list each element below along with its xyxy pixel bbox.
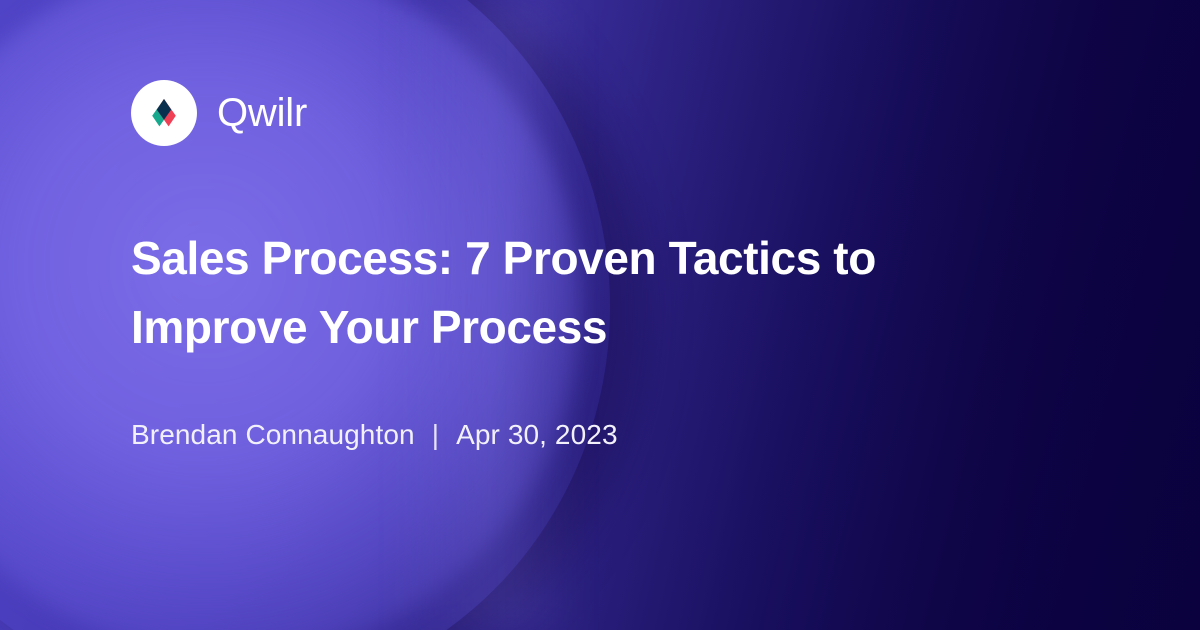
blog-social-card: Qwilr Sales Process: 7 Proven Tactics to… (0, 0, 1200, 630)
brand-lockup[interactable]: Qwilr (131, 80, 1200, 146)
publish-date: Apr 30, 2023 (456, 421, 618, 449)
page-title: Sales Process: 7 Proven Tactics to Impro… (131, 146, 1011, 362)
brand-wordmark: Qwilr (217, 93, 307, 133)
byline: Brendan Connaughton | Apr 30, 2023 (131, 362, 1200, 449)
author-name: Brendan Connaughton (131, 421, 415, 449)
card-content: Qwilr Sales Process: 7 Proven Tactics to… (0, 0, 1200, 630)
qwilr-chevron-logo-icon (144, 93, 184, 133)
qwilr-logo-badge (131, 80, 197, 146)
byline-separator: | (432, 421, 439, 449)
